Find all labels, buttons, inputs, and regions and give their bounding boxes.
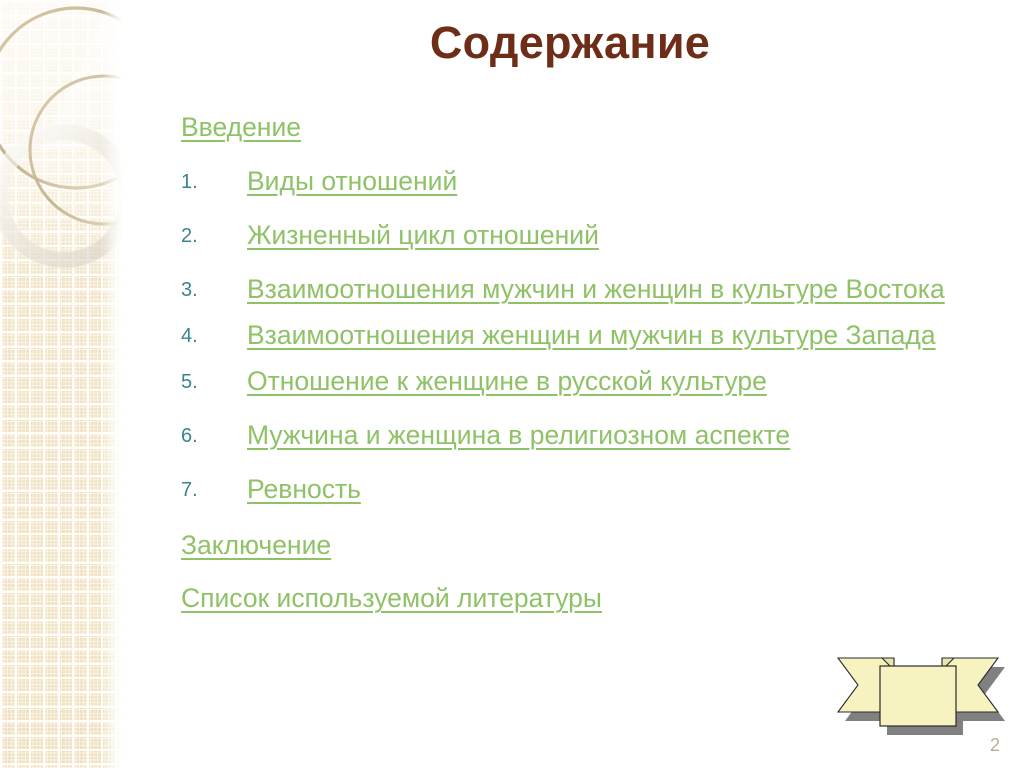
toc-link-intro[interactable]: Введение [181,112,301,142]
toc-link-4[interactable]: Взаимоотношения женщин и мужчин в культу… [247,320,936,350]
toc-entry-conclusion: Заключение [181,531,991,561]
toc-link-1[interactable]: Виды отношений [247,166,457,196]
toc-entry-3: 3. Взаимоотношения мужчин и женщин в кул… [181,275,991,305]
toc-number-4: 4. [181,325,227,348]
toc-link-references[interactable]: Список используемой литературы [181,583,602,613]
toc-entry-2: 2. Жизненный цикл отношений [181,221,991,251]
grid-paper-texture [0,0,122,768]
toc-entry-6: 6. Мужчина и женщина в религиозном аспек… [181,421,991,451]
ribbon-center-panel [880,666,956,726]
toc-number-3: 3. [181,279,227,302]
toc-entry-1: 1. Виды отношений [181,167,991,197]
slide-canvas: Содержание Введение 1. Виды отношений 2.… [0,0,1024,768]
toc-number-2: 2. [181,225,227,248]
toc-entry-4: 4. Взаимоотношения женщин и мужчин в кул… [181,321,991,351]
toc-entry-5: 5. Отношение к женщине в русской культур… [181,367,991,397]
toc-link-conclusion[interactable]: Заключение [181,530,331,560]
toc-entry-intro: Введение [181,113,991,143]
toc-number-1: 1. [181,171,227,194]
toc-link-6[interactable]: Мужчина и женщина в религиозном аспекте [247,420,790,450]
left-decorative-panel [0,0,122,768]
ribbon-banner-shape [836,652,1008,744]
toc-number-6: 6. [181,425,227,448]
toc-link-3[interactable]: Взаимоотношения мужчин и женщин в культу… [247,274,945,304]
slide-number: 2 [990,735,1000,756]
toc-link-5[interactable]: Отношение к женщине в русской культуре [247,366,767,396]
toc-number-7: 7. [181,479,227,502]
toc-entry-references: Список используемой литературы [181,584,991,614]
page-title: Содержание [140,18,1000,68]
toc-link-2[interactable]: Жизненный цикл отношений [247,220,599,250]
toc-link-7[interactable]: Ревность [247,474,361,504]
table-of-contents: Введение 1. Виды отношений 2. Жизненный … [181,113,991,638]
toc-entry-7: 7. Ревность [181,475,991,505]
toc-number-5: 5. [181,371,227,394]
